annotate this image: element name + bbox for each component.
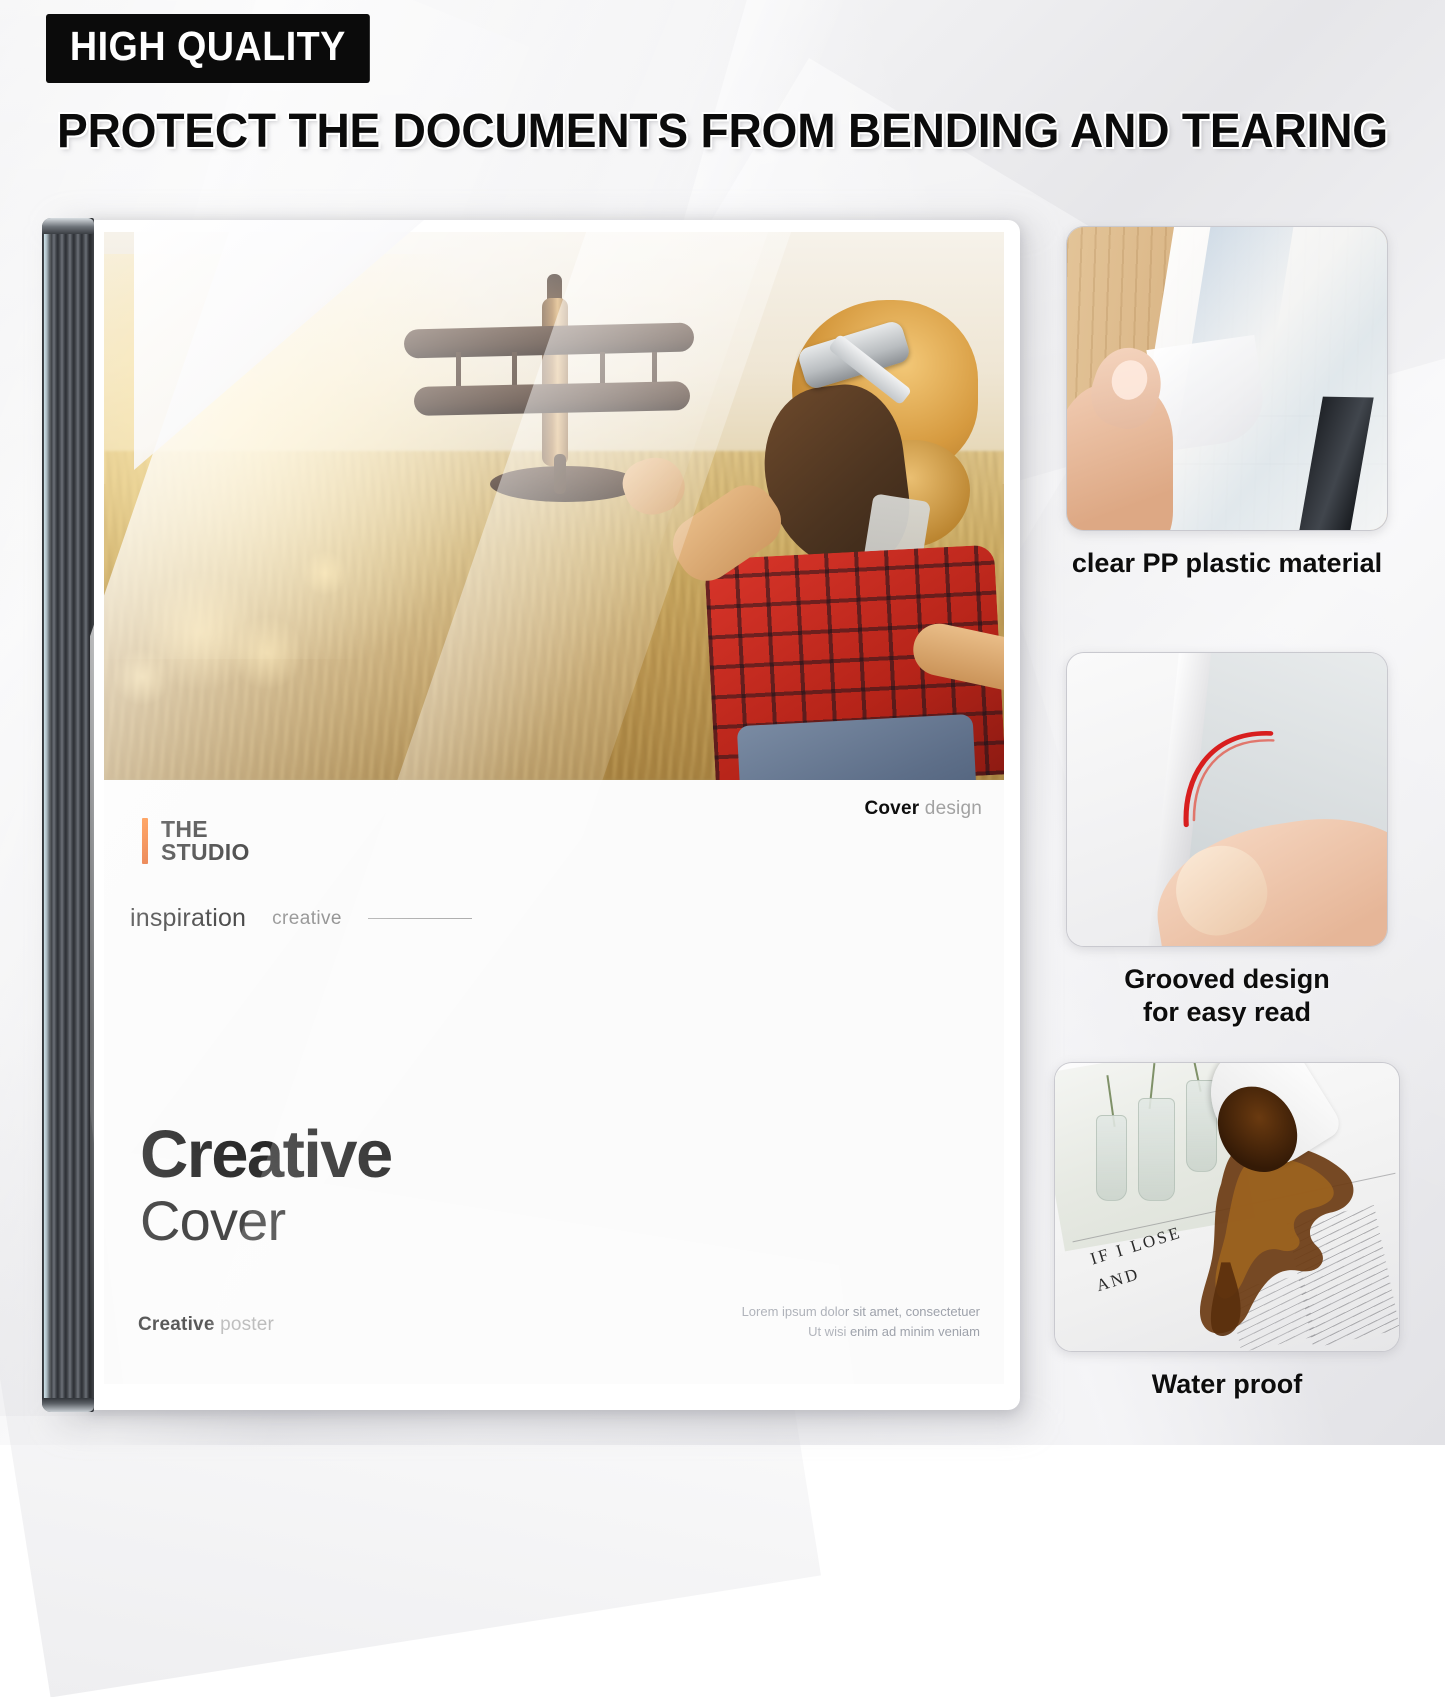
plane-lower-wing [414,381,691,416]
folder-spine-ribbed [42,218,94,1412]
plane-strut [512,352,517,388]
plane-tail-fin [554,454,566,494]
feature-1-caption: clear PP plastic material [1066,547,1388,580]
logo-text: THE STUDIO [161,818,250,863]
feature-2-caption-line-2: for easy read [1066,996,1388,1029]
cover-design-light: design [925,798,982,819]
footer-left: Creative poster [138,1314,274,1336]
footer-left-bold: Creative [138,1314,215,1335]
red-groove-highlight-icon [1176,717,1304,834]
feature-water-proof: IF I LOSE AND Water proof [1054,1062,1400,1401]
feature-2-image [1066,652,1388,947]
footer-right-line-1: Lorem ipsum dolor sit amet, consectetuer [742,1302,980,1322]
logo-line-1: THE [161,818,250,841]
title-bold: Creative [140,1122,392,1188]
title-light: Cover [140,1192,392,1249]
child-jeans [737,714,979,780]
plane-fuselage [542,298,568,466]
tagline-rule [368,918,472,920]
spine-gloss [44,218,51,1412]
tagline-row: inspiration creative [130,904,472,933]
child-figure [674,290,1004,780]
footer-left-light: poster [220,1314,274,1335]
photo-bokeh [302,550,348,596]
studio-logo: THE STUDIO [142,818,250,864]
product-folder: Cover design THE STUDIO inspiration crea… [42,214,1020,1412]
cover-design-caption: Cover design [864,798,982,820]
tagline-creative: creative [272,908,342,930]
footer-right-line-2: Ut wisi enim ad minim veniam [742,1322,980,1342]
hero-photo-child-with-biplane [104,232,1004,780]
logo-accent-bar [142,818,148,864]
spine-top-cap [42,218,94,234]
plane-strut [456,352,461,388]
feature-2-caption: Grooved design for easy read [1066,963,1388,1029]
feature-1-image [1066,226,1388,531]
poster-title: Creative Cover [140,1122,392,1249]
feature-clear-pp-plastic: clear PP plastic material [1066,226,1388,580]
feature-3-image: IF I LOSE AND [1054,1062,1400,1352]
high-quality-badge: HIGH QUALITY [46,14,370,83]
tagline-inspiration: inspiration [130,904,246,933]
footer-right: Lorem ipsum dolor sit amet, consectetuer… [742,1302,980,1342]
spine-bottom-cap [42,1398,94,1412]
feature-3-caption: Water proof [1054,1368,1400,1401]
cover-design-bold: Cover [864,798,919,819]
plane-upper-wing [404,322,695,358]
feature-2-caption-line-1: Grooved design [1066,963,1388,996]
headline: PROTECT THE DOCUMENTS FROM BENDING AND T… [29,104,1416,159]
hand-holding-sheet [1066,348,1214,531]
glass-vase [1096,1115,1127,1201]
feature-grooved-design: Grooved design for easy read [1066,652,1388,1029]
logo-line-2: STUDIO [161,841,250,864]
photo-bokeh [230,616,304,690]
folder-cover: Cover design THE STUDIO inspiration crea… [90,220,1020,1410]
poster-page: Cover design THE STUDIO inspiration crea… [104,232,1004,1384]
